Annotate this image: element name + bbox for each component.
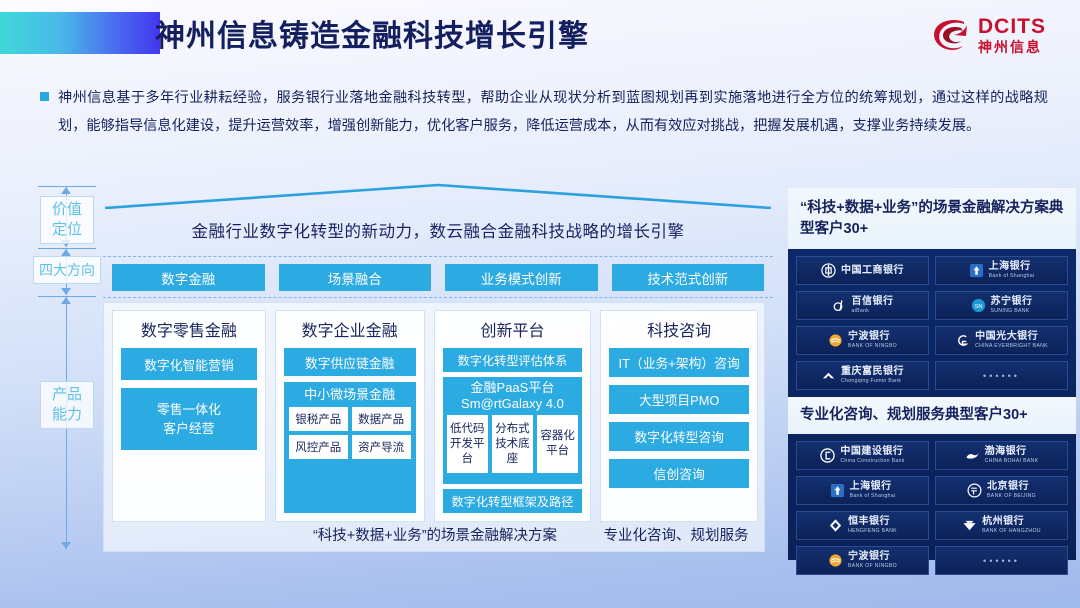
- logo-item[interactable]: 恒丰银行 HENGFENG BANK: [796, 511, 929, 540]
- bank-of-hangzhou-icon: [962, 518, 977, 533]
- logo-cn: 中国工商银行: [841, 266, 904, 276]
- logo-en: BANK OF HANGZHOU: [982, 529, 1041, 534]
- chip-1[interactable]: 数据产品: [352, 407, 411, 431]
- value-proposition-band: 金融行业数字化转型的新动力，数云融合金融科技战略的增长引擎: [103, 207, 773, 253]
- chip-0[interactable]: 银税产品: [289, 407, 348, 431]
- logo-cn: 渤海银行: [985, 447, 1027, 457]
- slide-header: 神州信息铸造金融科技增长引擎 DCITS 神州信息: [0, 0, 1080, 72]
- item-line1: 零售一体化: [157, 400, 221, 419]
- logo-item[interactable]: 上海银行 Bank of Shanghai: [796, 476, 929, 505]
- item-it-consulting[interactable]: IT（业务+架构）咨询: [609, 348, 749, 377]
- group-heading-line2: Sm@rtGalaxy 4.0: [447, 396, 579, 412]
- column-innovation-platform: 创新平台 数字化转型评估体系 金融PaaS平台 Sm@rtGalaxy 4.0 …: [434, 310, 592, 522]
- column-title: 数字企业金融: [284, 317, 416, 341]
- four-directions-row: 数字金融 场景融合 业务模式创新 技术范式创新: [112, 264, 764, 291]
- customers-panel: “科技+数据+业务”的场景金融解决方案典型客户30+ 中国工商银行 上海银行 B…: [788, 188, 1076, 560]
- logo-en: CHINA BOHAI BANK: [985, 459, 1039, 464]
- logo-cn: 苏宁银行: [991, 297, 1033, 307]
- intro-text: 神州信息基于多年行业耕耘经验，服务银行业落地金融科技转型，帮助企业从现状分析到蓝…: [58, 84, 1048, 140]
- ccb-icon: [820, 448, 835, 463]
- direction-tag-0[interactable]: 数字金融: [112, 264, 265, 291]
- rail-label-value-position: 价值 定位: [40, 196, 94, 244]
- item-transformation-framework-path[interactable]: 数字化转型框架及路径: [443, 489, 583, 513]
- hengfeng-bank-icon: [828, 518, 843, 533]
- chip-3[interactable]: 资产导流: [352, 435, 411, 459]
- logo-cn: 宁波银行: [848, 552, 890, 562]
- logo-en: HENGFENG BANK: [848, 529, 897, 534]
- column-digital-retail-finance: 数字零售金融 数字化智能营销 零售一体化 客户经营: [112, 310, 266, 522]
- column-title: 创新平台: [443, 317, 583, 341]
- customer-logo-grid-1: 中国工商银行 上海银行 Bank of Shanghai 百信银行 aiBank…: [788, 249, 1076, 397]
- logo-cn: 杭州银行: [982, 517, 1024, 527]
- bank-of-ningbo-icon: [828, 553, 843, 568]
- chip-1[interactable]: 分布式技术底座: [492, 415, 533, 473]
- icbc-icon: [821, 263, 836, 278]
- customers-heading-2: 专业化咨询、规划服务典型客户30+: [788, 397, 1076, 434]
- item-retail-integration[interactable]: 零售一体化 客户经营: [121, 388, 257, 450]
- logo-item[interactable]: 北京银行 BANK OF BEIJING: [935, 476, 1068, 505]
- logo-item-ellipsis[interactable]: ••••••: [935, 546, 1068, 575]
- logo-item[interactable]: 中国建设银行 China Construction Bank: [796, 441, 929, 470]
- dcits-swirl-icon: [931, 16, 971, 54]
- rail-label-line1: 四大方向: [34, 260, 100, 280]
- svg-text:SN: SN: [974, 304, 982, 310]
- rail-label-line2: 定位: [41, 220, 93, 240]
- bank-of-shanghai-icon: [969, 263, 984, 278]
- logo-item[interactable]: SN 苏宁银行 SUNING BANK: [935, 291, 1068, 320]
- logo-en: Chongqing Fumin Bank: [841, 379, 901, 384]
- logo-item[interactable]: 杭州银行 BANK OF HANGZHOU: [935, 511, 1068, 540]
- page-title: 神州信息铸造金融科技增长引擎: [155, 11, 589, 55]
- chip-2[interactable]: 风控产品: [289, 435, 348, 459]
- intro-paragraph: 神州信息基于多年行业耕耘经验，服务银行业落地金融科技转型，帮助企业从现状分析到蓝…: [40, 84, 1048, 140]
- logo-item[interactable]: 宁波银行 BANK OF NINGBO: [796, 326, 929, 355]
- rail-label-four-directions: 四大方向: [33, 256, 101, 284]
- column-title: 数字零售金融: [121, 317, 257, 341]
- logo-text-en: DCITS: [978, 16, 1046, 37]
- customer-logo-grid-2: 中国建设银行 China Construction Bank 渤海银行 CHIN…: [788, 434, 1076, 582]
- logo-en: BANK OF BEIJING: [987, 494, 1036, 499]
- column-title: 科技咨询: [609, 317, 749, 341]
- group-financial-paas-platform[interactable]: 金融PaaS平台 Sm@rtGalaxy 4.0 低代码开发平台 分布式技术底座…: [443, 377, 583, 484]
- group-sme-scenario-finance[interactable]: 中小微场景金融 银税产品 数据产品 风控产品 资产导流: [284, 382, 416, 513]
- chip-2[interactable]: 容器化平台: [537, 415, 578, 473]
- logo-item-ellipsis[interactable]: ••••••: [935, 361, 1068, 390]
- logo-cn: 百信银行: [852, 297, 894, 307]
- bank-of-beijing-icon: [967, 483, 982, 498]
- logo-cn: 重庆富民银行: [841, 367, 904, 377]
- dimension-rail: 价值 定位 四大方向 产品 能力: [36, 186, 98, 556]
- product-caption-right: 专业化咨询、规划服务: [596, 524, 756, 545]
- roof-arrow-icon: [103, 183, 773, 209]
- logo-cn: 北京银行: [987, 482, 1029, 492]
- logo-item[interactable]: 宁波银行 BANK OF NINGBO: [796, 546, 929, 575]
- direction-tag-3[interactable]: 技术范式创新: [612, 264, 765, 291]
- logo-item[interactable]: 中国光大银行 CHINA EVERBRIGHT BANK: [935, 326, 1068, 355]
- item-digital-transformation-assessment[interactable]: 数字化转型评估体系: [443, 348, 583, 372]
- bank-of-shanghai-icon: [830, 483, 845, 498]
- chip-0[interactable]: 低代码开发平台: [447, 415, 488, 473]
- item-large-project-pmo[interactable]: 大型项目PMO: [609, 385, 749, 414]
- logo-item[interactable]: 百信银行 aiBank: [796, 291, 929, 320]
- logo-en: Bank of Shanghai: [989, 274, 1035, 279]
- logo-cn: 中国光大银行: [975, 332, 1038, 342]
- group-heading: 中小微场景金融: [289, 386, 411, 403]
- logo-en: SUNING BANK: [991, 309, 1030, 314]
- square-bullet-icon: [40, 92, 49, 101]
- item-xinchuang-consulting[interactable]: 信创咨询: [609, 459, 749, 488]
- logo-cn: 上海银行: [850, 482, 892, 492]
- suning-bank-icon: SN: [971, 298, 986, 313]
- group-heading-line1: 金融PaaS平台: [447, 380, 579, 396]
- value-proposition-text: 金融行业数字化转型的新动力，数云融合金融科技战略的增长引擎: [192, 218, 685, 242]
- rail-label-line2: 能力: [41, 405, 93, 425]
- fumin-bank-icon: [821, 368, 836, 383]
- logo-cn: 宁波银行: [848, 332, 890, 342]
- bohai-bank-icon: [965, 448, 980, 463]
- item-line2: 客户经营: [163, 419, 214, 438]
- ellipsis-icon: ••••••: [983, 371, 1020, 381]
- divider-top: [103, 256, 773, 257]
- logo-item[interactable]: 上海银行 Bank of Shanghai: [935, 256, 1068, 285]
- logo-en: BANK OF NINGBO: [848, 564, 897, 569]
- logo-item[interactable]: 中国工商银行: [796, 256, 929, 285]
- item-digital-transformation-consulting[interactable]: 数字化转型咨询: [609, 422, 749, 451]
- direction-tag-1[interactable]: 场景融合: [279, 264, 432, 291]
- customers-heading-1: “科技+数据+业务”的场景金融解决方案典型客户30+: [788, 188, 1076, 249]
- item-digital-supply-chain-finance[interactable]: 数字供应链金融: [284, 348, 416, 376]
- column-technology-consulting: 科技咨询 IT（业务+架构）咨询 大型项目PMO 数字化转型咨询 信创咨询: [600, 310, 758, 522]
- logo-cn: 中国建设银行: [840, 447, 903, 457]
- rail-label-product-capability: 产品 能力: [40, 381, 94, 429]
- logo-en: aiBank: [852, 309, 870, 314]
- ellipsis-icon: ••••••: [983, 556, 1020, 566]
- logo-item[interactable]: 渤海银行 CHINA BOHAI BANK: [935, 441, 1068, 470]
- title-accent-bar: [0, 12, 160, 54]
- product-capability-card: 数字零售金融 数字化智能营销 零售一体化 客户经营 数字企业金融 数字供应链金融…: [103, 302, 765, 552]
- logo-item[interactable]: 重庆富民银行 Chongqing Fumin Bank: [796, 361, 929, 390]
- bank-of-ningbo-icon: [828, 333, 843, 348]
- everbright-bank-icon: [955, 333, 970, 348]
- logo-en: Bank of Shanghai: [850, 494, 896, 499]
- slide-root: 神州信息铸造金融科技增长引擎 DCITS 神州信息 神州信息基于多年行业耕耘经验…: [0, 0, 1080, 608]
- logo-en: CHINA EVERBRIGHT BANK: [975, 344, 1048, 349]
- logo-en: BANK OF NINGBO: [848, 344, 897, 349]
- logo-text-cn: 神州信息: [978, 40, 1046, 54]
- column-digital-enterprise-finance: 数字企业金融 数字供应链金融 中小微场景金融 银税产品 数据产品 风控产品 资产…: [275, 310, 425, 522]
- rail-label-line1: 产品: [41, 385, 93, 405]
- dcits-logo: DCITS 神州信息: [931, 16, 1046, 54]
- divider-bottom: [103, 297, 773, 298]
- logo-cn: 上海银行: [989, 262, 1031, 272]
- item-digital-smart-marketing[interactable]: 数字化智能营销: [121, 348, 257, 380]
- direction-tag-2[interactable]: 业务模式创新: [445, 264, 598, 291]
- aibank-icon: [832, 298, 847, 313]
- logo-cn: 恒丰银行: [848, 517, 890, 527]
- logo-en: China Construction Bank: [840, 459, 904, 464]
- rail-label-line1: 价值: [41, 200, 93, 220]
